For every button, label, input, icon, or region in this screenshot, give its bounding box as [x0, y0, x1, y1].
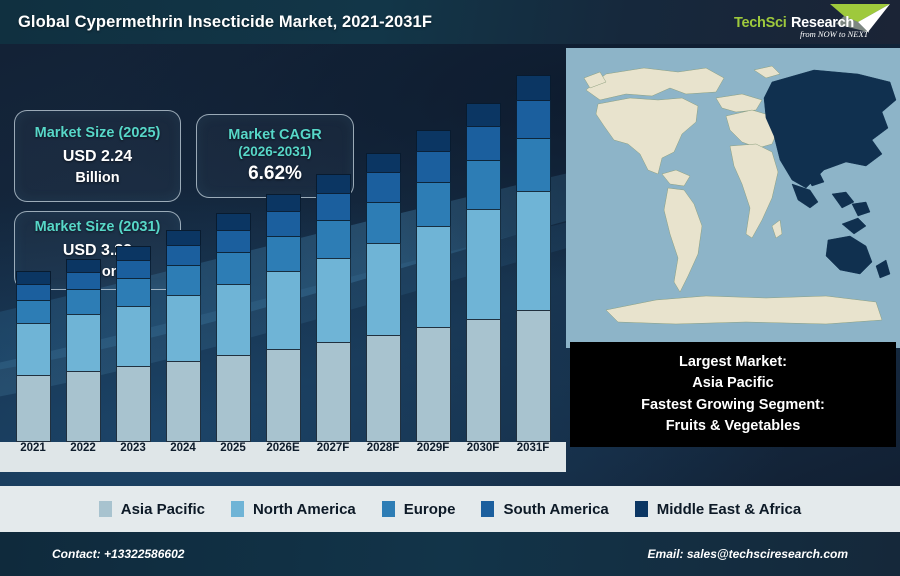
bar-column	[462, 52, 504, 442]
contact-text: Contact: +13322586602	[52, 547, 184, 561]
bar-stack	[16, 271, 51, 442]
axis-tick-label: 2027F	[312, 442, 354, 464]
bar-segment	[16, 323, 51, 375]
bar-column	[212, 52, 254, 442]
bar-segment	[316, 258, 351, 343]
bar-segment	[16, 284, 51, 300]
bar-segment	[66, 259, 101, 272]
axis-tick-label: 2023	[112, 442, 154, 464]
world-map-icon	[566, 48, 900, 348]
axis-tick-label: 2030F	[462, 442, 504, 464]
bar-segment	[516, 191, 551, 310]
bar-segment	[116, 260, 151, 278]
techsci-research-logo[interactable]: TechSci Research from NOW to NEXT	[718, 2, 892, 42]
axis-tick-label: 2025	[212, 442, 254, 464]
bar-segment	[116, 366, 151, 442]
bar-segment	[166, 295, 201, 361]
bar-segment	[516, 100, 551, 138]
bar-stack	[66, 259, 101, 442]
bar-segment	[316, 342, 351, 442]
footer-bar: Contact: +13322586602 Email: sales@techs…	[0, 532, 900, 576]
bar-segment	[166, 230, 201, 245]
bar-column	[512, 52, 554, 442]
bar-segment	[516, 310, 551, 442]
bar-segment	[416, 182, 451, 226]
legend-label: Middle East & Africa	[657, 501, 801, 518]
bar-segment	[316, 174, 351, 192]
bar-stack	[516, 75, 551, 442]
bar-segment	[66, 272, 101, 289]
bar-segment	[416, 327, 451, 442]
bar-segment	[266, 236, 301, 271]
legend-swatch-icon	[99, 501, 112, 517]
fastest-segment-value: Fruits & Vegetables	[666, 416, 801, 437]
legend-swatch-icon	[481, 501, 494, 517]
legend-label: South America	[503, 501, 608, 518]
bar-segment	[466, 103, 501, 126]
main-panel: Market Size (2025) USD 2.24 Billion Mark…	[0, 44, 900, 486]
chart-x-axis: 202120222023202420252026E2027F2028F2029F…	[0, 442, 566, 464]
bar-segment	[366, 202, 401, 243]
legend-label: Europe	[404, 501, 456, 518]
axis-tick-label: 2028F	[362, 442, 404, 464]
bar-segment	[16, 300, 51, 323]
axis-tick-label: 2031F	[512, 442, 554, 464]
bar-segment	[116, 246, 151, 260]
legend-label: North America	[253, 501, 356, 518]
legend-item[interactable]: North America	[231, 501, 356, 518]
bar-segment	[366, 335, 401, 442]
legend-swatch-icon	[635, 501, 648, 517]
bar-column	[12, 52, 54, 442]
legend-item[interactable]: Europe	[382, 501, 456, 518]
bar-column	[412, 52, 454, 442]
bar-segment	[366, 153, 401, 173]
axis-tick-label: 2026E	[262, 442, 304, 464]
bar-segment	[416, 130, 451, 151]
bar-segment	[366, 243, 401, 335]
bar-column	[312, 52, 354, 442]
bar-segment	[166, 265, 201, 294]
infographic-root: Global Cypermethrin Insecticide Market, …	[0, 0, 900, 576]
bar-segment	[216, 252, 251, 283]
axis-tick-label: 2021	[12, 442, 54, 464]
header-bar: Global Cypermethrin Insecticide Market, …	[0, 0, 900, 44]
legend-swatch-icon	[382, 501, 395, 517]
bar-segment	[116, 278, 151, 305]
axis-tick-label: 2022	[62, 442, 104, 464]
bar-stack	[266, 194, 301, 442]
stacked-bar-chart: 202120222023202420252026E2027F2028F2029F…	[0, 44, 566, 486]
svg-text:TechSci: TechSci	[734, 15, 786, 31]
legend-item[interactable]: South America	[481, 501, 608, 518]
bar-segment	[316, 220, 351, 258]
bar-segment	[466, 126, 501, 161]
bar-segment	[266, 271, 301, 349]
chart-bars	[0, 52, 566, 442]
fastest-segment-label: Fastest Growing Segment:	[641, 395, 825, 416]
bar-stack	[166, 230, 201, 442]
bar-stack	[466, 103, 501, 442]
bar-column	[162, 52, 204, 442]
email-text[interactable]: Email: sales@techsciresearch.com	[648, 547, 848, 561]
bar-segment	[266, 349, 301, 442]
bar-segment	[366, 172, 401, 201]
bar-segment	[66, 314, 101, 370]
bar-stack	[116, 246, 151, 442]
axis-tick-label: 2029F	[412, 442, 454, 464]
bar-segment	[116, 306, 151, 367]
world-map	[566, 48, 900, 348]
axis-tick-label: 2024	[162, 442, 204, 464]
bar-stack	[216, 213, 251, 442]
bar-stack	[416, 130, 451, 442]
bar-segment	[466, 209, 501, 318]
bar-segment	[216, 230, 251, 253]
bar-segment	[266, 211, 301, 236]
bar-segment	[466, 319, 501, 443]
legend-swatch-icon	[231, 501, 244, 517]
bar-column	[262, 52, 304, 442]
chart-legend: Asia PacificNorth AmericaEuropeSouth Ame…	[0, 486, 900, 532]
bar-segment	[166, 245, 201, 266]
logo-icon: TechSci Research from NOW to NEXT	[718, 2, 892, 42]
svg-text:from NOW to NEXT: from NOW to NEXT	[800, 29, 870, 39]
bar-segment	[416, 226, 451, 327]
bar-segment	[216, 213, 251, 229]
legend-item[interactable]: Middle East & Africa	[635, 501, 801, 518]
bar-segment	[166, 361, 201, 442]
legend-item[interactable]: Asia Pacific	[99, 501, 205, 518]
page-title: Global Cypermethrin Insecticide Market, …	[18, 13, 432, 32]
bar-segment	[516, 138, 551, 191]
bar-segment	[466, 160, 501, 209]
bar-column	[62, 52, 104, 442]
bar-segment	[516, 75, 551, 100]
bar-segment	[16, 375, 51, 442]
bar-column	[362, 52, 404, 442]
bar-segment	[266, 194, 301, 211]
legend-label: Asia Pacific	[121, 501, 205, 518]
bar-stack	[366, 153, 401, 442]
bar-segment	[216, 284, 251, 356]
largest-market-info-box: Largest Market: Asia Pacific Fastest Gro…	[570, 342, 896, 447]
bar-segment	[66, 371, 101, 443]
bar-stack	[316, 174, 351, 442]
bar-segment	[316, 193, 351, 220]
bar-segment	[16, 271, 51, 284]
largest-market-value: Asia Pacific	[692, 373, 773, 394]
bar-segment	[66, 289, 101, 314]
bar-segment	[216, 355, 251, 442]
bar-segment	[416, 151, 451, 182]
bar-column	[112, 52, 154, 442]
largest-market-label: Largest Market:	[679, 352, 787, 373]
